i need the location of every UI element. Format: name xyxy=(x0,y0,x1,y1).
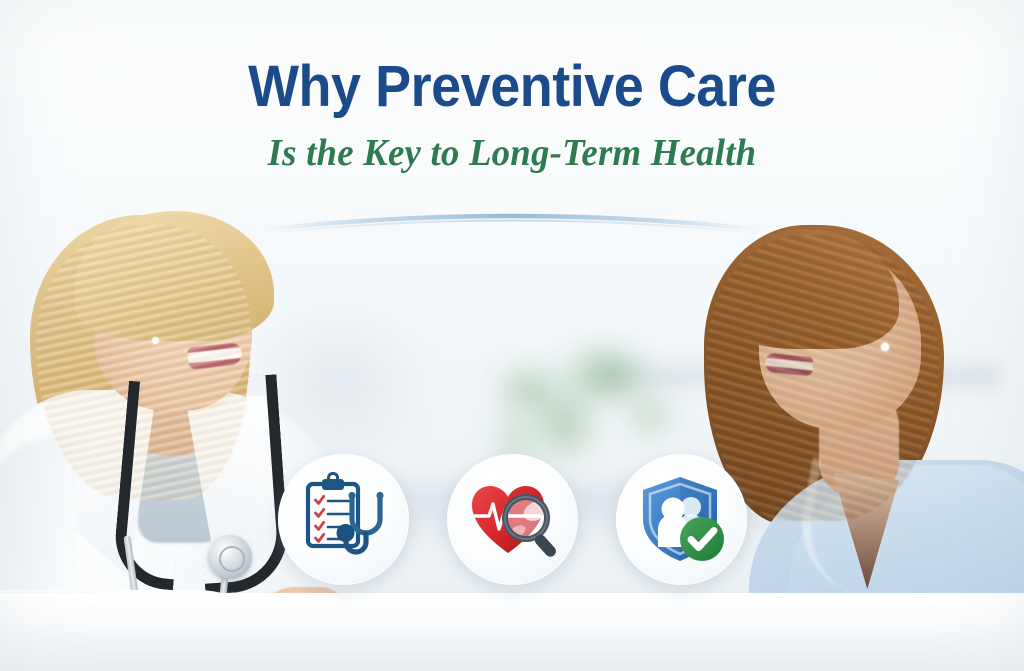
doctor-earring xyxy=(152,337,159,344)
page-title: Why Preventive Care xyxy=(36,58,988,116)
headline-block: Why Preventive Care Is the Key to Long-T… xyxy=(0,58,1024,172)
icon-clipboard-stethoscope[interactable] xyxy=(278,454,409,585)
clipboard-checklist-stethoscope-icon xyxy=(295,471,391,567)
icon-shield-family-check[interactable] xyxy=(616,454,747,585)
patient-earring xyxy=(881,343,889,351)
feature-icon-row xyxy=(0,452,1024,586)
icon-heart-magnifier[interactable] xyxy=(447,454,578,585)
shield-family-protection-check-icon xyxy=(633,471,729,567)
banner-stage: Why Preventive Care Is the Key to Long-T… xyxy=(0,0,1024,671)
desk-surface xyxy=(0,593,1024,671)
heart-pulse-magnifying-glass-icon xyxy=(464,471,560,567)
page-subtitle: Is the Key to Long-Term Health xyxy=(15,134,1008,172)
